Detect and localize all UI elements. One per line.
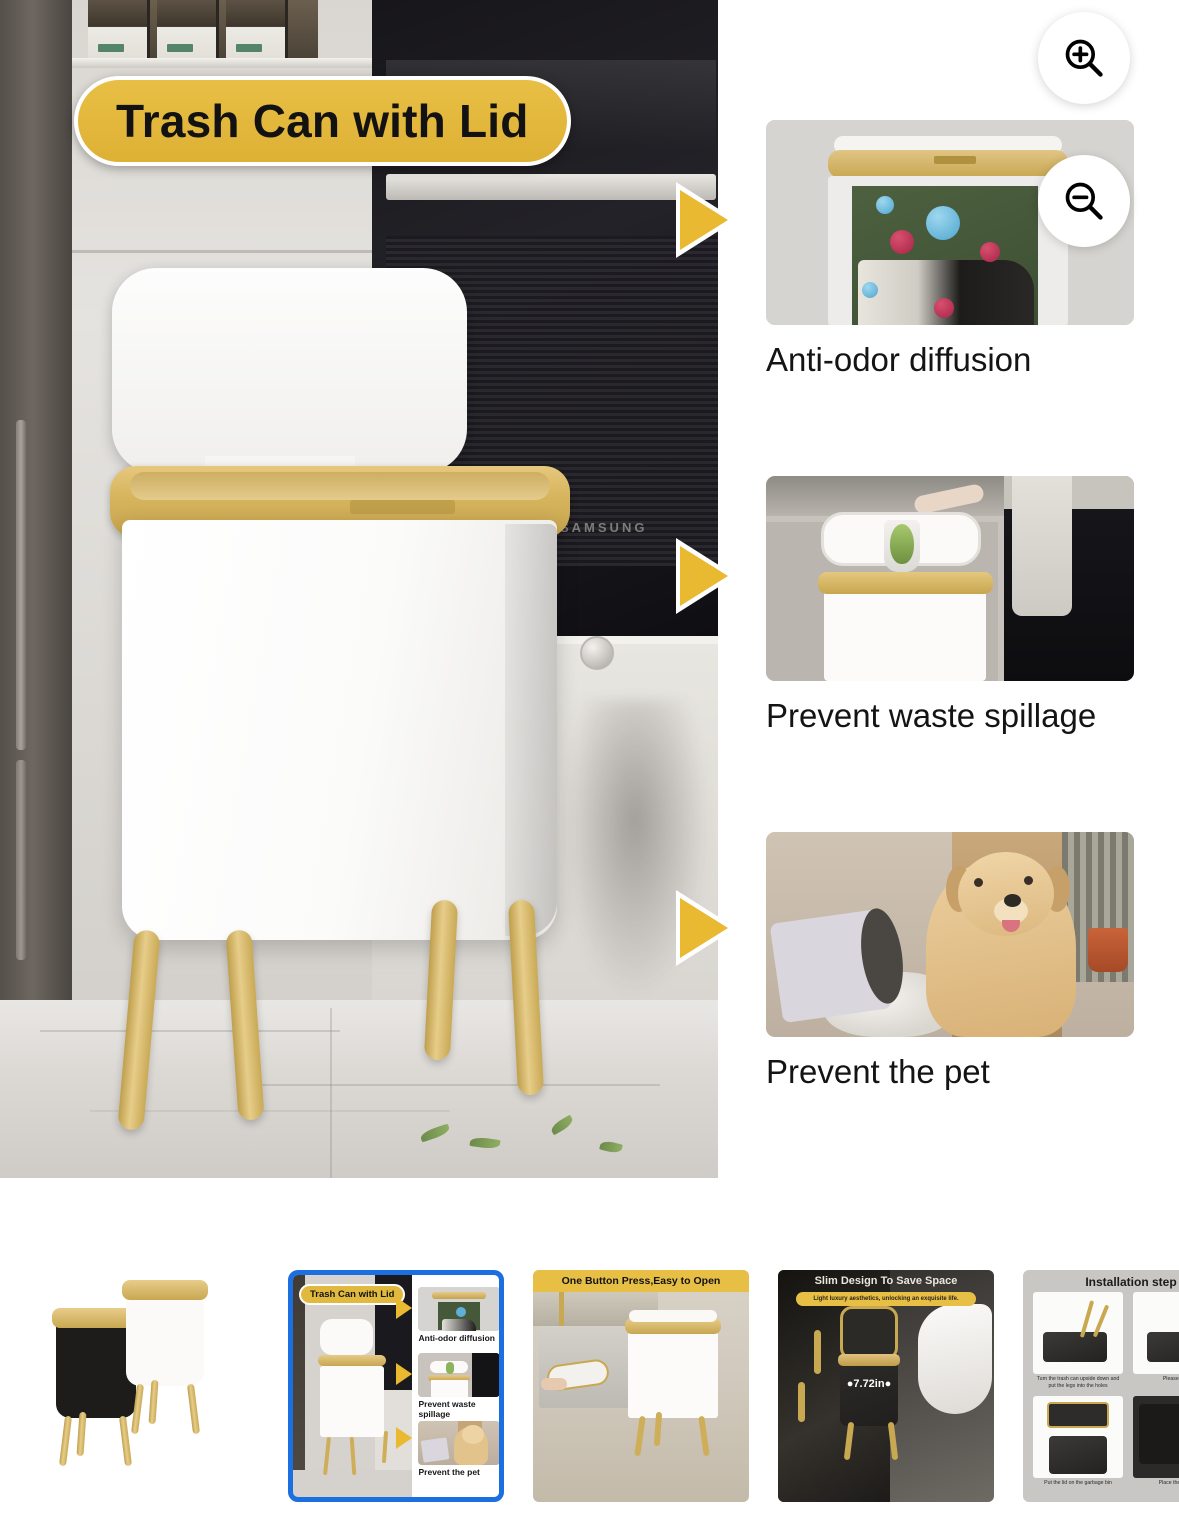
fallen-leaf xyxy=(469,1136,500,1150)
shelf-lip xyxy=(72,58,372,68)
callout-arrow-icon xyxy=(676,890,736,966)
wall-seam xyxy=(72,250,372,253)
trash-can-lid-open xyxy=(112,268,467,473)
feature-item: Prevent waste spillage xyxy=(766,476,1134,735)
shelf-jar xyxy=(226,0,288,58)
feature-caption: Prevent waste spillage xyxy=(766,697,1134,735)
zoom-out-button[interactable] xyxy=(1038,155,1130,247)
feature-item: Prevent the pet xyxy=(766,832,1134,1091)
main-product-image[interactable]: SAMSUNG xyxy=(0,0,1179,1178)
thumbnail-4-dimension: ●7.72in● xyxy=(838,1378,900,1390)
title-badge: Trash Can with Lid xyxy=(74,76,571,166)
thumbnail-strip[interactable]: Trash Can with Lid Anti-odor dif xyxy=(0,1178,1179,1536)
thumbnail-1-image xyxy=(18,1270,234,1502)
thumbnail-2-badge: Trash Can with Lid xyxy=(299,1284,405,1305)
callout-arrow-icon xyxy=(676,538,736,614)
feature-image-prevent-pet xyxy=(766,832,1134,1037)
kitchen-scene-photo: SAMSUNG xyxy=(0,0,718,1178)
callout-arrow-icon xyxy=(676,182,736,258)
thumbnail-2-caption: Prevent waste spillage xyxy=(418,1400,499,1419)
thumbnail-2[interactable]: Trash Can with Lid Anti-odor dif xyxy=(288,1270,504,1502)
cabinet-handle-lower xyxy=(16,760,26,960)
cabinet-handle xyxy=(16,420,26,750)
thumbnail-4-title: Slim Design To Save Space xyxy=(778,1275,994,1287)
fallen-leaf xyxy=(599,1139,623,1154)
thumbnail-3-banner: One Button Press,Easy to Open xyxy=(533,1270,749,1292)
thumbnail-4-subtitle-pill: Light luxury aesthetics, unlocking an ex… xyxy=(796,1292,976,1306)
thumbnail-2-caption: Anti-odor diffusion xyxy=(418,1334,499,1344)
marble-floor xyxy=(0,1000,718,1178)
thumbnail-1[interactable] xyxy=(18,1270,234,1502)
thumbnail-3-image: One Button Press,Easy to Open xyxy=(533,1270,749,1502)
thumbnail-4-image: ●7.72in● Slim Design To Save Space Light… xyxy=(778,1270,994,1502)
feature-image-prevent-spillage xyxy=(766,476,1134,681)
thumbnail-2-image: Trash Can with Lid Anti-odor dif xyxy=(293,1275,499,1497)
fallen-leaf xyxy=(549,1115,575,1136)
thumbnail-5-title: Installation step xyxy=(1023,1275,1179,1289)
trash-can-body xyxy=(122,520,557,940)
feature-caption: Prevent the pet xyxy=(766,1053,1134,1091)
zoom-in-button[interactable] xyxy=(1038,12,1130,104)
appliance-knob xyxy=(580,636,614,670)
title-badge-label: Trash Can with Lid xyxy=(116,95,529,147)
oven-handle xyxy=(386,174,716,200)
trash-can-press-button xyxy=(350,500,455,514)
thumbnail-5-caption: Please n to a xyxy=(1133,1376,1179,1383)
thumbnail-5-caption: Place the trash c xyxy=(1133,1480,1179,1487)
oven-brand-label: SAMSUNG xyxy=(560,520,647,535)
thumbnail-3-banner-label: One Button Press,Easy to Open xyxy=(562,1275,721,1287)
feature-caption: Anti-odor diffusion xyxy=(766,341,1134,379)
thumbnail-5-caption: Put the lid on the garbage bin xyxy=(1033,1480,1123,1487)
product-image-viewer: SAMSUNG xyxy=(0,0,1179,1536)
thumbnail-4-subtitle: Light luxury aesthetics, unlocking an ex… xyxy=(813,1296,958,1302)
thumbnail-5-image: Installation step Turn the trash can ups… xyxy=(1023,1270,1179,1502)
thumbnail-2-caption: Prevent the pet xyxy=(418,1468,499,1478)
zoom-out-icon xyxy=(1062,179,1106,223)
zoom-in-icon xyxy=(1062,36,1106,80)
thumbnail-3[interactable]: One Button Press,Easy to Open xyxy=(533,1270,749,1502)
thumbnail-5[interactable]: Installation step Turn the trash can ups… xyxy=(1023,1270,1179,1502)
shelf-jar xyxy=(88,0,150,58)
shelf-jar xyxy=(157,0,219,58)
trash-can-rim-inner xyxy=(130,472,550,500)
thumbnail-5-caption: Turn the trash can upside down and put t… xyxy=(1033,1376,1123,1389)
thumbnail-4[interactable]: ●7.72in● Slim Design To Save Space Light… xyxy=(778,1270,994,1502)
trash-can-body-shading xyxy=(505,524,557,936)
fallen-leaf xyxy=(419,1124,451,1143)
